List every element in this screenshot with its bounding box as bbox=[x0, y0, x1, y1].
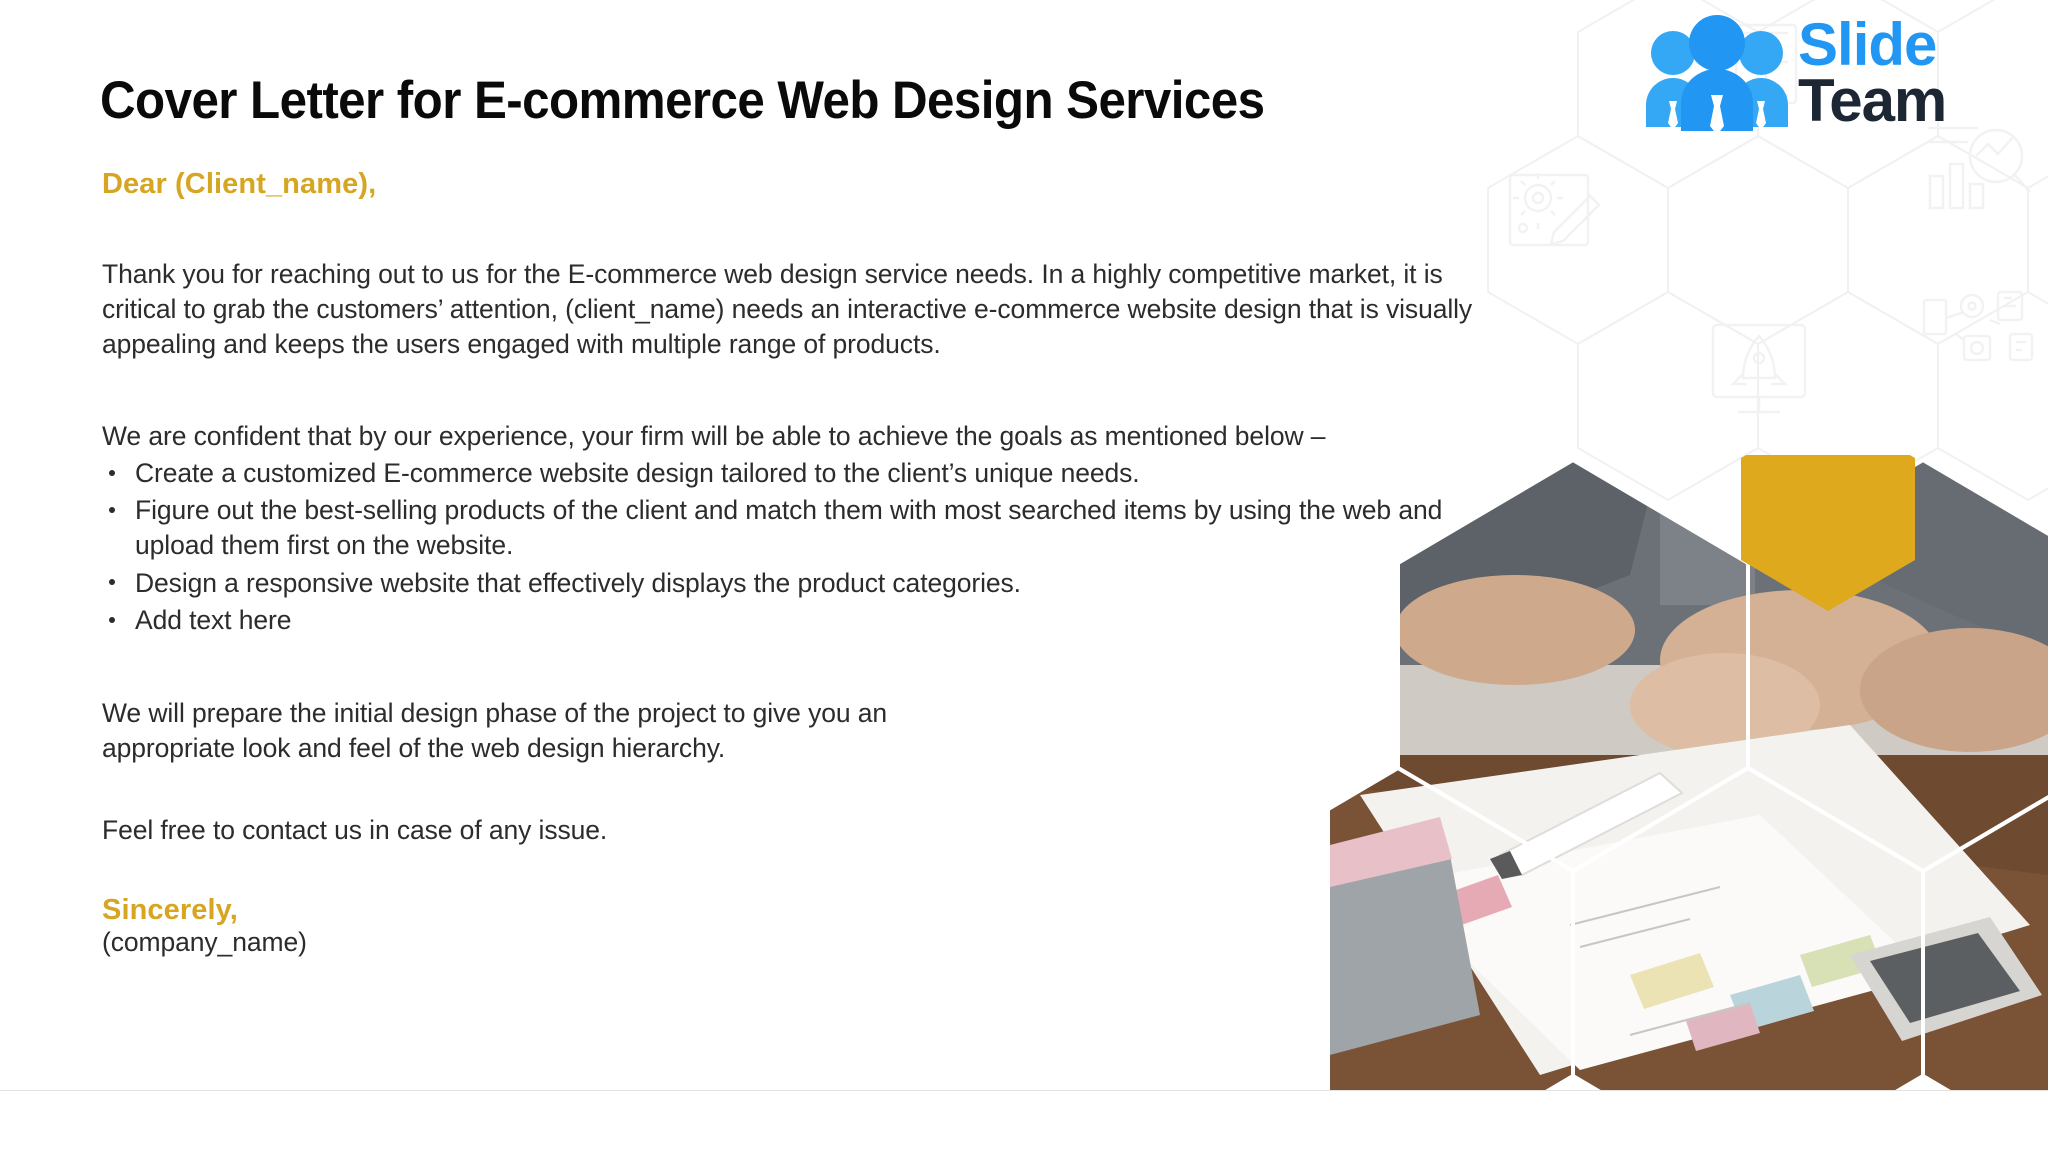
list-item-label: Design a responsive website that effecti… bbox=[135, 568, 1021, 598]
list-item: Design a responsive website that effecti… bbox=[102, 566, 1522, 601]
bullet-dot-icon bbox=[109, 470, 115, 476]
gear-pencil-icon bbox=[1510, 173, 1599, 245]
letter-paragraph-3: We will prepare the initial design phase… bbox=[102, 696, 1002, 766]
spacer bbox=[102, 767, 1522, 813]
list-item: Add text here bbox=[102, 603, 1522, 638]
chart-magnifier-icon bbox=[1928, 128, 2030, 208]
list-item: Figure out the best-selling products of … bbox=[102, 493, 1522, 563]
rocket-monitor-icon bbox=[1713, 325, 1805, 412]
slide-canvas: Slide Team Cover Letter for E-commerce W… bbox=[0, 0, 2048, 1152]
network-tech-icon bbox=[1924, 292, 2032, 360]
bullet-dot-icon bbox=[109, 579, 115, 585]
three-people-group-icon bbox=[1642, 9, 1792, 134]
spacer bbox=[102, 640, 1522, 696]
spacer bbox=[102, 848, 1522, 894]
page-title: Cover Letter for E-commerce Web Design S… bbox=[100, 70, 1264, 131]
bottom-strip bbox=[0, 1091, 2048, 1152]
letter-paragraph-1: Thank you for reaching out to us for the… bbox=[102, 257, 1522, 363]
letter-closing: Sincerely, bbox=[102, 894, 1522, 927]
letter-paragraph-4: Feel free to contact us in case of any i… bbox=[102, 813, 1522, 848]
letter-paragraph-2-intro: We are confident that by our experience,… bbox=[102, 419, 1522, 454]
spacer bbox=[102, 363, 1522, 419]
list-item-label: Create a customized E-commerce website d… bbox=[135, 458, 1140, 488]
logo-word-team: Team bbox=[1798, 73, 1946, 129]
goals-bullet-list: Create a customized E-commerce website d… bbox=[102, 456, 1522, 638]
logo-word-slide: Slide bbox=[1798, 17, 1946, 73]
bullet-dot-icon bbox=[109, 617, 115, 623]
spacer bbox=[102, 201, 1522, 257]
letter-body: Dear (Client_name), Thank you for reachi… bbox=[102, 168, 1522, 958]
list-item-label: Figure out the best-selling products of … bbox=[135, 495, 1442, 560]
letter-salutation: Dear (Client_name), bbox=[102, 168, 1522, 201]
list-item: Create a customized E-commerce website d… bbox=[102, 456, 1522, 491]
bottom-divider bbox=[0, 1090, 2048, 1091]
slideteam-logo[interactable]: Slide Team bbox=[1642, 4, 2032, 139]
letter-company-name: (company_name) bbox=[102, 927, 1522, 958]
list-item-label: Add text here bbox=[135, 605, 291, 635]
bullet-dot-icon bbox=[109, 507, 115, 513]
